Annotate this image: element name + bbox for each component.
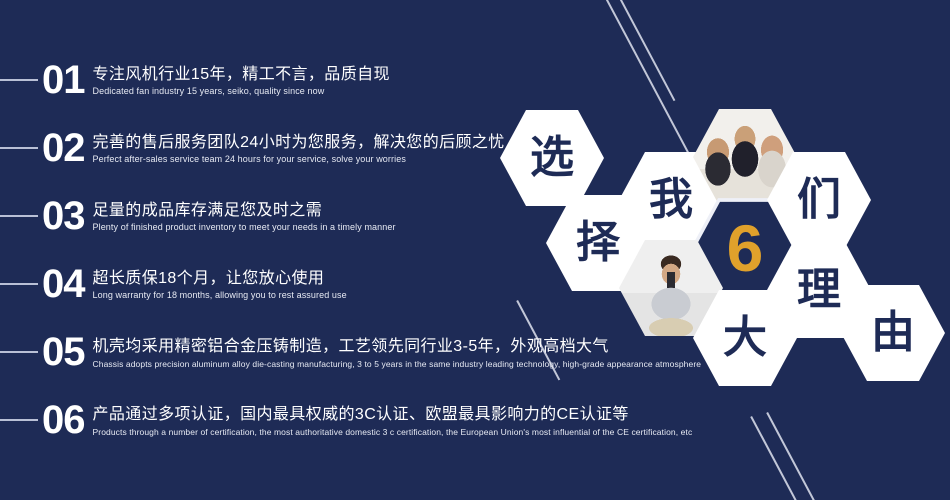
bullet-dash-icon [0, 351, 38, 353]
reason-number: 02 [42, 128, 93, 168]
reason-title-cn: 专注风机行业15年，精工不言，品质自现 [93, 64, 701, 86]
bullet-dash-icon [0, 215, 38, 217]
hexagon-label: 6 [727, 215, 764, 281]
hexagon-label: 理 [797, 268, 841, 312]
reason-title-cn: 产品通过多项认证，国内最具权威的3C认证、欧盟最具影响力的CE认证等 [93, 404, 701, 426]
diagonal-line-5 [766, 412, 817, 500]
hexagon-label: 择 [576, 221, 620, 265]
reason-text-group: 完善的售后服务团队24小时为您服务，解决您的后顾之忧 Perfect after… [93, 130, 701, 166]
reason-subtitle-en: Perfect after-sales service team 24 hour… [93, 154, 701, 166]
reason-item-06[interactable]: 06 产品通过多项认证，国内最具权威的3C认证、欧盟最具影响力的CE认证等 Pr… [0, 386, 700, 454]
reason-number: 01 [42, 60, 93, 100]
bullet-dash-icon [0, 283, 38, 285]
reason-number: 03 [42, 196, 93, 236]
reason-title-cn: 机壳均采用精密铝合金压铸制造，工艺领先同行业3-5年，外观高档大气 [93, 336, 702, 358]
hexagon-label: 我 [649, 178, 693, 222]
reason-title-cn: 完善的售后服务团队24小时为您服务，解决您的后顾之忧 [93, 132, 701, 154]
banner-canvas: 01 专注风机行业15年，精工不言，品质自现 Dedicated fan ind… [0, 0, 950, 500]
reason-item-05[interactable]: 05 机壳均采用精密铝合金压铸制造，工艺领先同行业3-5年，外观高档大气 Cha… [0, 318, 700, 386]
bullet-dash-icon [0, 147, 38, 149]
reason-text-group: 专注风机行业15年，精工不言，品质自现 Dedicated fan indust… [93, 62, 701, 98]
bullet-dash-icon [0, 79, 38, 81]
hexagon-label: 们 [797, 178, 841, 222]
reason-number: 06 [42, 400, 93, 440]
reason-subtitle-en: Products through a number of certificati… [93, 427, 701, 438]
reason-number: 05 [42, 332, 93, 372]
reason-item-01[interactable]: 01 专注风机行业15年，精工不言，品质自现 Dedicated fan ind… [0, 46, 700, 114]
hexagon-label: 由 [871, 311, 915, 355]
reason-text-group: 产品通过多项认证，国内最具权威的3C认证、欧盟最具影响力的CE认证等 Produ… [93, 402, 701, 438]
reason-number: 04 [42, 264, 93, 304]
reason-subtitle-en: Chassis adopts precision aluminum alloy … [93, 359, 702, 370]
hexagon-label: 选 [530, 136, 574, 180]
reason-subtitle-en: Long warranty for 18 months, allowing yo… [93, 290, 701, 302]
reason-subtitle-en: Dedicated fan industry 15 years, seiko, … [93, 86, 701, 98]
bullet-dash-icon [0, 419, 38, 421]
reason-text-group: 机壳均采用精密铝合金压铸制造，工艺领先同行业3-5年，外观高档大气 Chassi… [93, 334, 702, 370]
hexagon-label: 大 [723, 316, 767, 360]
